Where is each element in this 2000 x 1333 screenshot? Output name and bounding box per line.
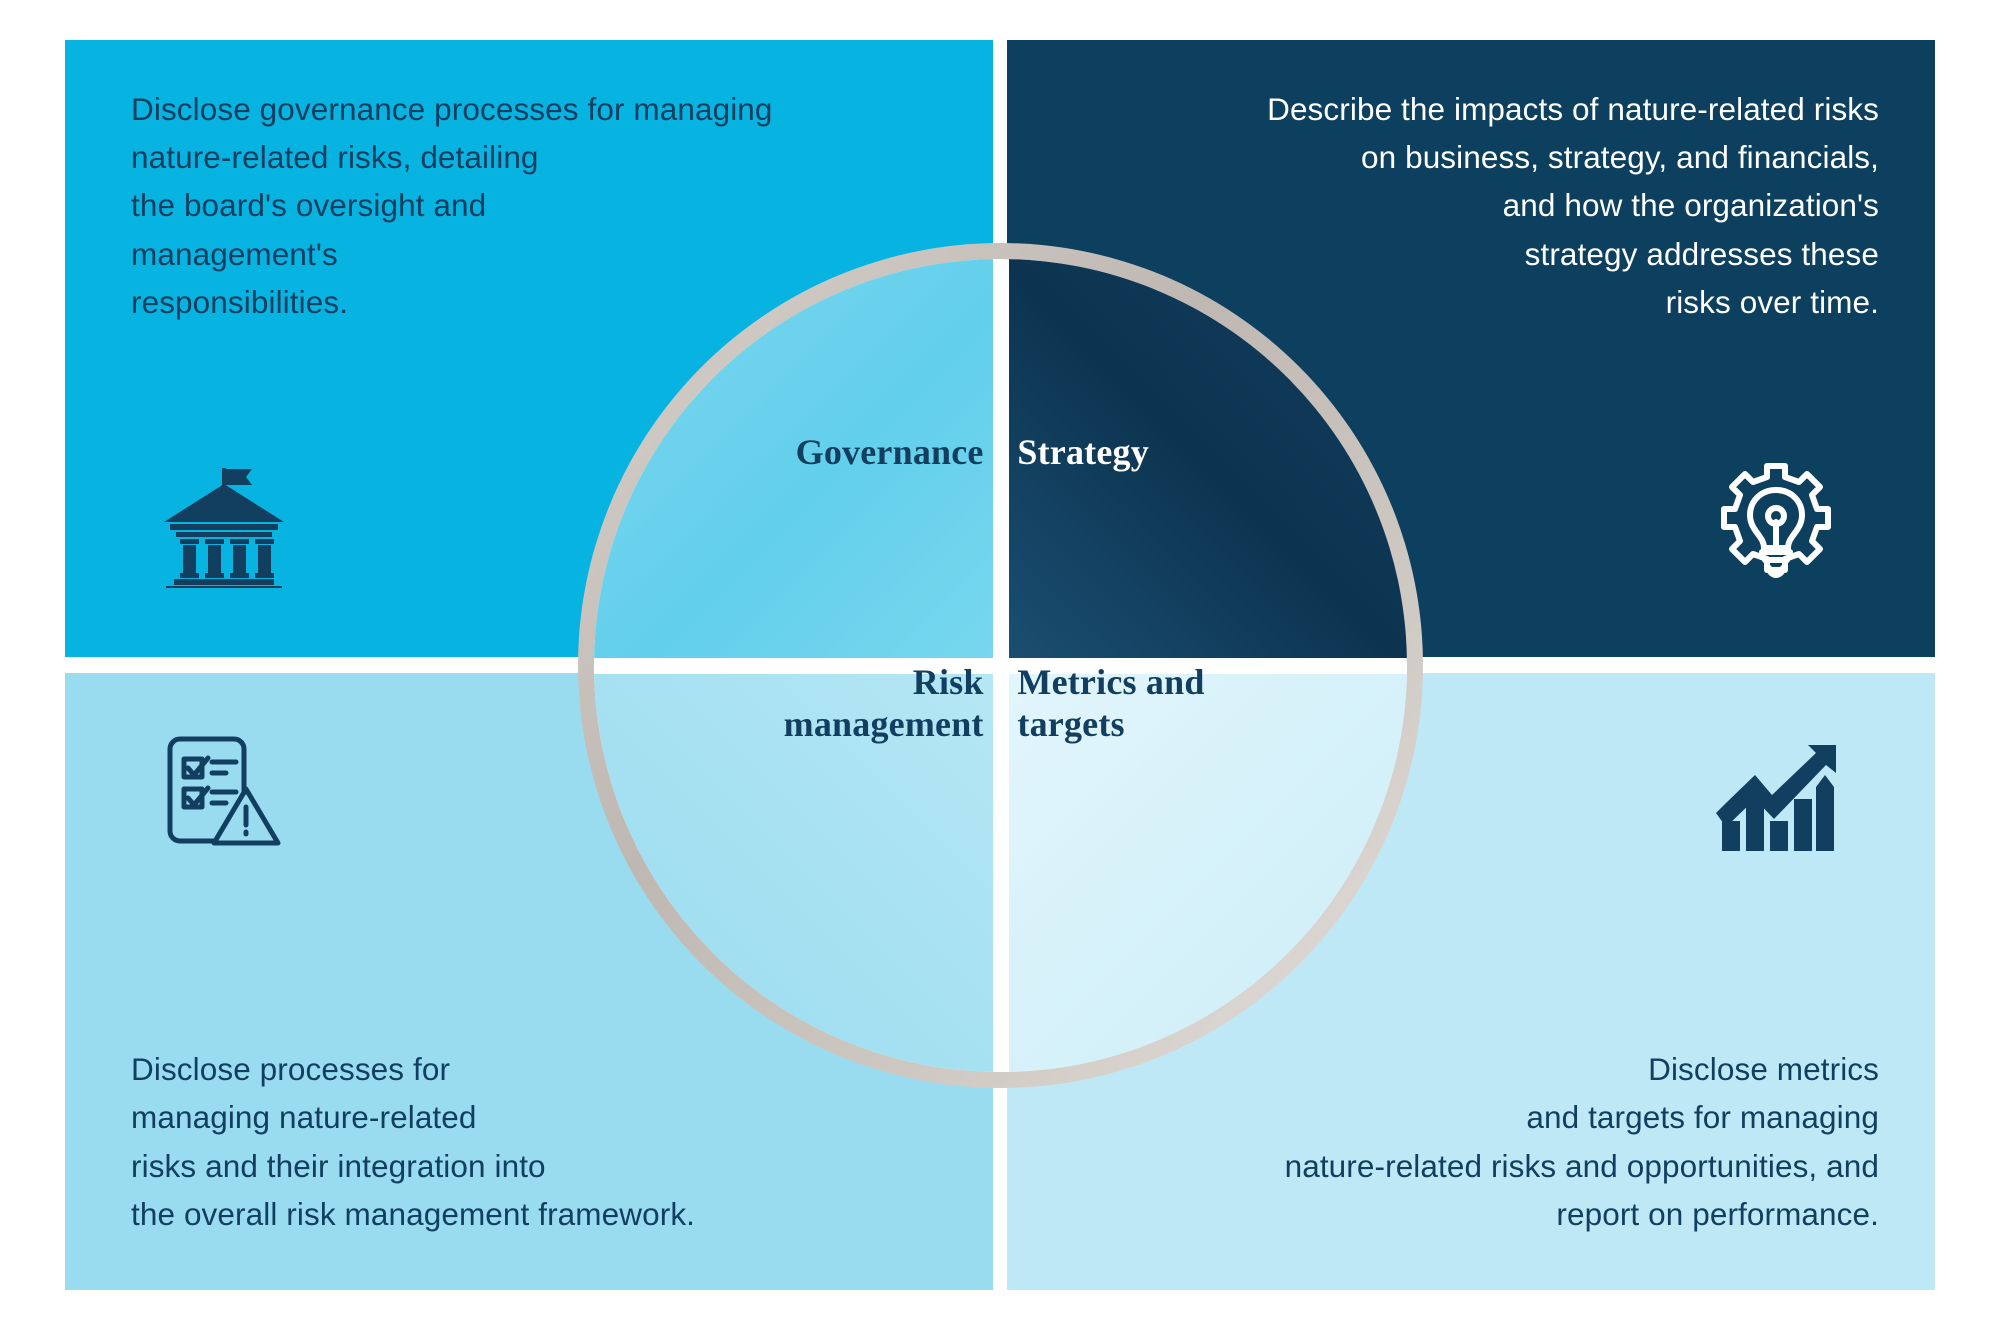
quadrant-metrics-targets[interactable]: Disclose metrics and targets for managin… xyxy=(1007,673,1935,1290)
diagram-canvas: Disclose governance processes for managi… xyxy=(0,0,2000,1333)
checklist-warning-icon xyxy=(160,731,288,859)
quadrant-risk-management[interactable]: Disclose processes for managing nature-r… xyxy=(65,673,993,1290)
lightbulb-gear-icon xyxy=(1712,460,1840,588)
metrics-targets-description: Disclose metrics and targets for managin… xyxy=(1059,1045,1879,1238)
government-building-icon xyxy=(160,460,288,588)
quadrant-grid: Disclose governance processes for managi… xyxy=(65,40,1935,1290)
quadrant-strategy[interactable]: Describe the impacts of nature-related r… xyxy=(1007,40,1935,657)
strategy-description: Describe the impacts of nature-related r… xyxy=(1069,85,1879,326)
governance-description: Disclose governance processes for managi… xyxy=(131,85,931,326)
growth-bar-chart-icon xyxy=(1712,743,1840,871)
risk-management-description: Disclose processes for managing nature-r… xyxy=(131,1045,951,1238)
quadrant-governance[interactable]: Disclose governance processes for managi… xyxy=(65,40,993,657)
